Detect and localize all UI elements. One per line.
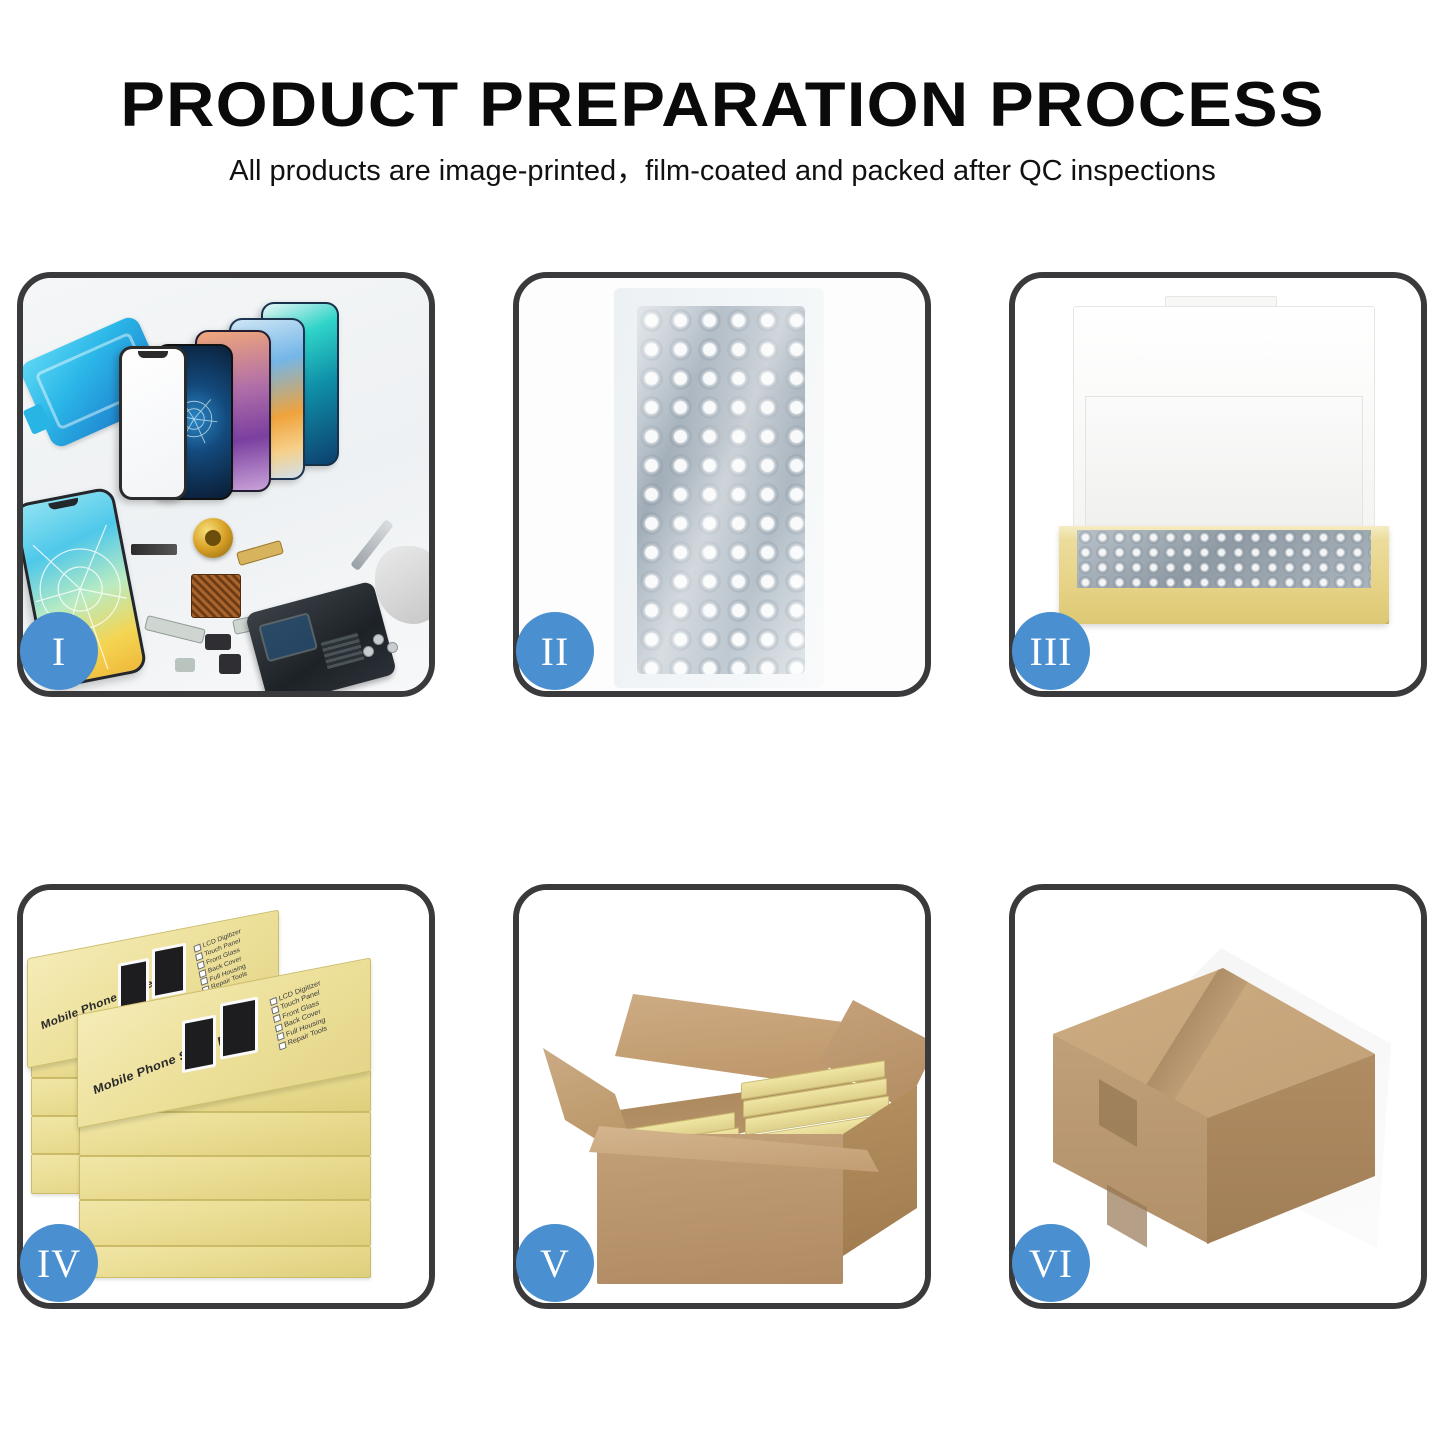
box-screen-image [152, 943, 186, 1000]
plastic-sheen [637, 306, 805, 674]
sim-tray-part [175, 658, 195, 672]
stacked-box [79, 1246, 371, 1278]
step-badge-5: V [516, 1224, 594, 1302]
screen-notch [138, 351, 168, 358]
box-screen-image [220, 996, 258, 1059]
gold-connector-part [236, 540, 284, 566]
speaker-mesh-part [131, 544, 177, 555]
ic-chip-part [191, 574, 241, 618]
bubble-wrapped-product [1077, 530, 1371, 588]
flex-cable-part [144, 615, 206, 644]
step-badge-2: II [516, 612, 594, 690]
process-step-grid: Mobile Phone Spare Parts LCD Digitizer T… [0, 0, 1445, 1445]
small-component-part [205, 634, 231, 650]
step-badge-4: IV [20, 1224, 98, 1302]
step-badge-6: VI [1012, 1224, 1090, 1302]
stacked-box [79, 1200, 371, 1246]
screw-part [363, 646, 374, 657]
camera-ring-part [193, 518, 233, 558]
step-badge-1: I [20, 612, 98, 690]
tempered-glass-protector [119, 346, 187, 500]
bubble-wrapped-product [637, 306, 805, 674]
hand-holding-tool [375, 546, 435, 624]
foam-liner [1085, 396, 1363, 530]
small-component-part [219, 654, 241, 674]
step-badge-3: III [1012, 612, 1090, 690]
checkbox-icon [278, 1041, 286, 1050]
stacked-box [79, 1156, 371, 1200]
box-checklist: LCD Digitizer Touch Panel Front Glass Ba… [269, 978, 330, 1051]
box-screen-image [182, 1015, 216, 1074]
screw-part [387, 642, 398, 653]
bubble-texture [1077, 530, 1371, 588]
screw-part [373, 634, 384, 645]
